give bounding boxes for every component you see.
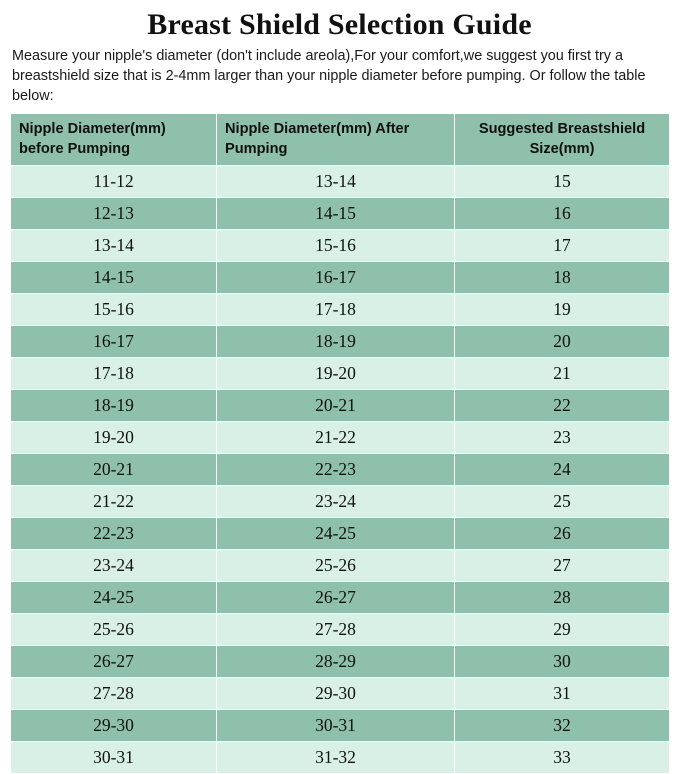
cell-suggested-size: 25	[455, 486, 670, 518]
table-row: 30-3131-3233	[11, 742, 670, 774]
cell-before-pumping: 22-23	[11, 518, 217, 550]
cell-before-pumping: 29-30	[11, 710, 217, 742]
cell-before-pumping: 21-22	[11, 486, 217, 518]
cell-after-pumping: 15-16	[217, 230, 455, 262]
cell-after-pumping: 28-29	[217, 646, 455, 678]
table-row: 27-2829-3031	[11, 678, 670, 710]
cell-suggested-size: 22	[455, 390, 670, 422]
table-row: 11-1213-1415	[11, 166, 670, 198]
table-row: 23-2425-2627	[11, 550, 670, 582]
page-title: Breast Shield Selection Guide	[10, 6, 669, 44]
cell-before-pumping: 20-21	[11, 454, 217, 486]
table-row: 20-2122-2324	[11, 454, 670, 486]
cell-before-pumping: 26-27	[11, 646, 217, 678]
selection-guide-table: Nipple Diameter(mm) before Pumping Nippl…	[10, 113, 670, 774]
table-row: 21-2223-2425	[11, 486, 670, 518]
cell-before-pumping: 16-17	[11, 326, 217, 358]
cell-after-pumping: 14-15	[217, 198, 455, 230]
table-row: 17-1819-2021	[11, 358, 670, 390]
cell-suggested-size: 16	[455, 198, 670, 230]
cell-before-pumping: 23-24	[11, 550, 217, 582]
cell-after-pumping: 24-25	[217, 518, 455, 550]
table-row: 13-1415-1617	[11, 230, 670, 262]
column-header-before-pumping: Nipple Diameter(mm) before Pumping	[11, 113, 217, 165]
table-row: 29-3030-3132	[11, 710, 670, 742]
cell-suggested-size: 15	[455, 166, 670, 198]
cell-after-pumping: 27-28	[217, 614, 455, 646]
cell-before-pumping: 15-16	[11, 294, 217, 326]
guide-page: Breast Shield Selection Guide Measure yo…	[0, 6, 679, 683]
cell-before-pumping: 19-20	[11, 422, 217, 454]
cell-after-pumping: 25-26	[217, 550, 455, 582]
cell-after-pumping: 23-24	[217, 486, 455, 518]
table-row: 12-1314-1516	[11, 198, 670, 230]
cell-after-pumping: 20-21	[217, 390, 455, 422]
cell-suggested-size: 21	[455, 358, 670, 390]
table-row: 22-2324-2526	[11, 518, 670, 550]
cell-before-pumping: 27-28	[11, 678, 217, 710]
table-row: 19-2021-2223	[11, 422, 670, 454]
column-header-suggested-size: Suggested Breastshield Size(mm)	[455, 113, 670, 165]
cell-suggested-size: 30	[455, 646, 670, 678]
column-header-after-pumping: Nipple Diameter(mm) After Pumping	[217, 113, 455, 165]
table-row: 25-2627-2829	[11, 614, 670, 646]
cell-before-pumping: 14-15	[11, 262, 217, 294]
cell-after-pumping: 30-31	[217, 710, 455, 742]
cell-suggested-size: 23	[455, 422, 670, 454]
cell-after-pumping: 19-20	[217, 358, 455, 390]
cell-before-pumping: 11-12	[11, 166, 217, 198]
cell-after-pumping: 26-27	[217, 582, 455, 614]
cell-before-pumping: 18-19	[11, 390, 217, 422]
cell-after-pumping: 29-30	[217, 678, 455, 710]
cell-after-pumping: 17-18	[217, 294, 455, 326]
cell-suggested-size: 18	[455, 262, 670, 294]
table-row: 18-1920-2122	[11, 390, 670, 422]
cell-suggested-size: 26	[455, 518, 670, 550]
table-row: 15-1617-1819	[11, 294, 670, 326]
table-row: 16-1718-1920	[11, 326, 670, 358]
cell-suggested-size: 28	[455, 582, 670, 614]
cell-before-pumping: 24-25	[11, 582, 217, 614]
cell-suggested-size: 17	[455, 230, 670, 262]
cell-suggested-size: 27	[455, 550, 670, 582]
intro-paragraph: Measure your nipple's diameter (don't in…	[12, 46, 667, 107]
cell-before-pumping: 25-26	[11, 614, 217, 646]
cell-before-pumping: 30-31	[11, 742, 217, 774]
cell-suggested-size: 32	[455, 710, 670, 742]
cell-after-pumping: 18-19	[217, 326, 455, 358]
cell-suggested-size: 24	[455, 454, 670, 486]
table-row: 24-2526-2728	[11, 582, 670, 614]
cell-suggested-size: 19	[455, 294, 670, 326]
cell-suggested-size: 33	[455, 742, 670, 774]
cell-after-pumping: 31-32	[217, 742, 455, 774]
cell-after-pumping: 22-23	[217, 454, 455, 486]
table-row: 26-2728-2930	[11, 646, 670, 678]
table-header-row: Nipple Diameter(mm) before Pumping Nippl…	[11, 113, 670, 165]
cell-before-pumping: 17-18	[11, 358, 217, 390]
cell-after-pumping: 16-17	[217, 262, 455, 294]
cell-suggested-size: 31	[455, 678, 670, 710]
cell-before-pumping: 12-13	[11, 198, 217, 230]
table-body: 11-1213-141512-1314-151613-1415-161714-1…	[11, 166, 670, 774]
cell-after-pumping: 13-14	[217, 166, 455, 198]
cell-before-pumping: 13-14	[11, 230, 217, 262]
table-row: 14-1516-1718	[11, 262, 670, 294]
cell-suggested-size: 20	[455, 326, 670, 358]
cell-suggested-size: 29	[455, 614, 670, 646]
cell-after-pumping: 21-22	[217, 422, 455, 454]
